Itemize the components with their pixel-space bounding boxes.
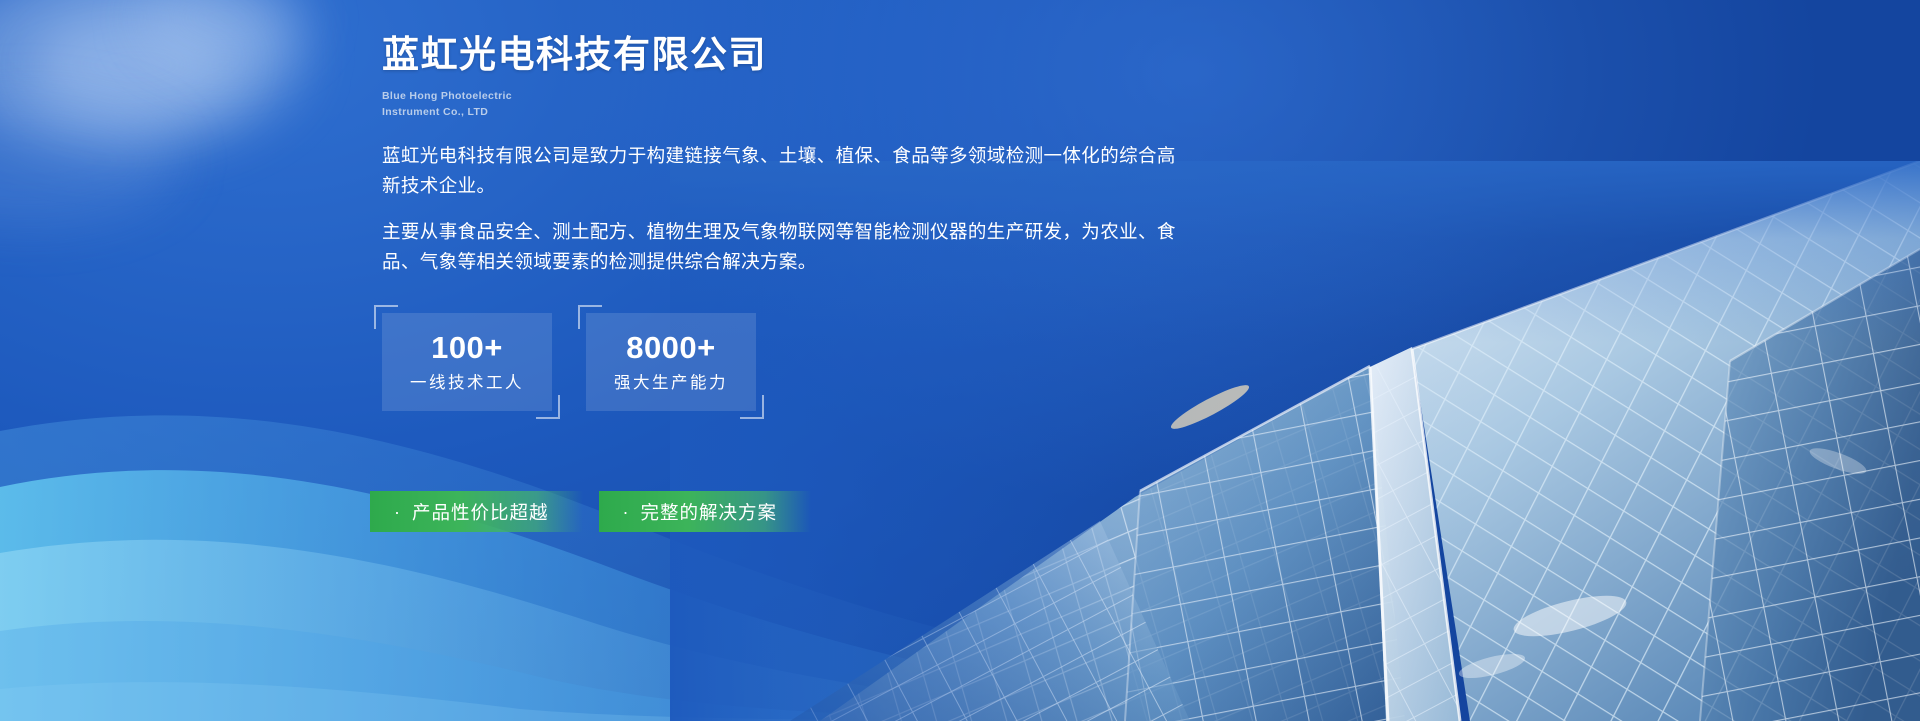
- bullet-dot-icon: ·: [623, 503, 630, 521]
- feature-tag-label: 产品性价比超越: [412, 499, 549, 525]
- stat-card-workers: 100+ 一线技术工人: [382, 313, 552, 411]
- feature-tag-solution[interactable]: · 完整的解决方案: [599, 491, 812, 532]
- stat-number: 100+: [431, 332, 503, 363]
- description-paragraph-1: 蓝虹光电科技有限公司是致力于构建链接气象、土壤、植保、食品等多领域检测一体化的综…: [382, 141, 1182, 201]
- brand-subtitle: Blue Hong Photoelectric Instrument Co., …: [382, 89, 1202, 120]
- stat-number: 8000+: [626, 332, 716, 363]
- cloud-decoration: [140, 0, 310, 65]
- feature-tag-label: 完整的解决方案: [641, 499, 778, 525]
- feature-tags-group: · 产品性价比超越 · 完整的解决方案: [370, 491, 811, 532]
- stat-card-capacity: 8000+ 强大生产能力: [586, 313, 756, 411]
- hero-banner: 蓝虹光电科技有限公司 Blue Hong Photoelectric Instr…: [0, 0, 1920, 721]
- cloud-decoration: [0, 95, 180, 225]
- description-paragraph-2: 主要从事食品安全、测土配方、植物生理及气象物联网等智能检测仪器的生产研发，为农业…: [382, 217, 1182, 277]
- stat-label: 一线技术工人: [410, 375, 524, 392]
- brand-subtitle-line2: Instrument Co., LTD: [382, 105, 1202, 121]
- stats-group: 100+ 一线技术工人 8000+ 强大生产能力: [382, 313, 1202, 411]
- hero-content: 蓝虹光电科技有限公司 Blue Hong Photoelectric Instr…: [382, 32, 1202, 411]
- cloud-decoration: [0, 0, 300, 150]
- cloud-decoration: [30, 10, 240, 120]
- brand-subtitle-line1: Blue Hong Photoelectric: [382, 89, 1202, 105]
- page-title: 蓝虹光电科技有限公司: [382, 32, 1202, 78]
- bullet-dot-icon: ·: [394, 503, 401, 521]
- stat-label: 强大生产能力: [614, 375, 728, 392]
- feature-tag-value[interactable]: · 产品性价比超越: [370, 491, 583, 532]
